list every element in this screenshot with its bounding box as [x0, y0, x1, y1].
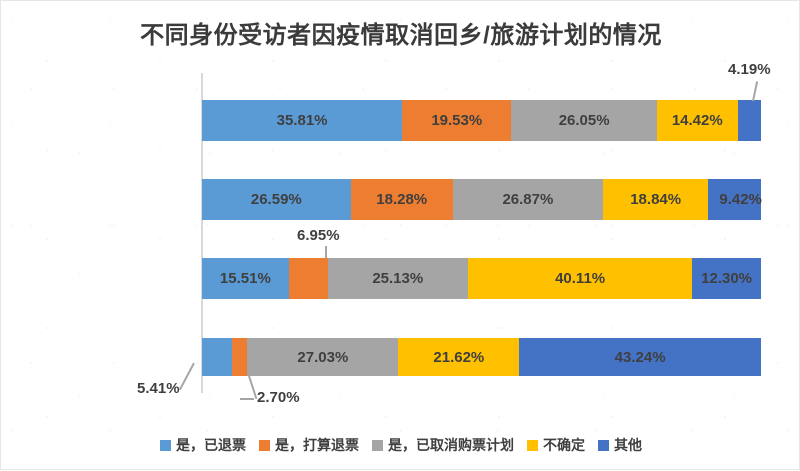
bar-value-label: 19.53% — [431, 113, 482, 128]
bar-value-label: 18.84% — [630, 192, 681, 207]
bar-segment-1-4[interactable]: 9.42% — [708, 179, 761, 220]
bar-segment-3-4[interactable]: 43.24% — [519, 338, 761, 376]
bar-segment-3-2[interactable]: 27.03% — [247, 338, 398, 376]
bar-value-label: 15.51% — [220, 271, 271, 286]
legend-item-2[interactable]: 是，已取消购票计划 — [372, 435, 514, 455]
legend-swatch-icon — [598, 440, 609, 451]
legend-swatch-icon — [527, 440, 538, 451]
bar-row: 26.59% 18.28% 26.87% 18.84% 9.42% — [202, 179, 761, 220]
legend-label: 是，打算退票 — [275, 435, 359, 455]
callout-label-6.95: 6.95% — [297, 227, 340, 244]
bar-value-label: 40.11% — [555, 271, 605, 286]
bar-segment-1-3[interactable]: 18.84% — [603, 179, 708, 220]
legend-label: 是，已退票 — [176, 435, 246, 455]
bar-segment-2-3[interactable]: 40.11% — [468, 258, 692, 299]
bar-row: 27.03% 21.62% 43.24% — [202, 338, 761, 376]
bar-value-label: 26.87% — [502, 192, 553, 207]
callout-label-4.19: 4.19% — [728, 61, 771, 78]
bar-segment-2-1[interactable] — [289, 258, 328, 299]
bar-segment-2-4[interactable]: 12.30% — [692, 258, 761, 299]
bar-segment-0-2[interactable]: 26.05% — [511, 100, 657, 141]
bar-value-label: 43.24% — [615, 350, 666, 365]
callout-label-2.70: 2.70% — [257, 389, 300, 406]
bar-segment-0-0[interactable]: 35.81% — [202, 100, 402, 141]
callout-label-5.41: 5.41% — [137, 380, 180, 397]
legend-swatch-icon — [259, 440, 270, 451]
bar-segment-3-3[interactable]: 21.62% — [398, 338, 519, 376]
legend-label: 是，已取消购票计划 — [388, 435, 514, 455]
callout-leader-line — [248, 376, 257, 399]
chart-container: 不同身份受访者因疫情取消回乡/旅游计划的情况 公务员或事业单位员工 企业员工 学… — [0, 0, 800, 470]
legend-item-3[interactable]: 不确定 — [527, 435, 585, 455]
bar-segment-0-1[interactable]: 19.53% — [402, 100, 511, 141]
legend-swatch-icon — [160, 440, 171, 451]
bar-segment-3-0[interactable] — [202, 338, 232, 376]
bar-row: 35.81% 19.53% 26.05% 14.42% — [202, 100, 761, 141]
bar-row: 15.51% 25.13% 40.11% 12.30% — [202, 258, 761, 299]
bar-segment-0-4[interactable] — [738, 100, 761, 141]
bar-segment-2-2[interactable]: 25.13% — [328, 258, 468, 299]
bar-segment-3-1[interactable] — [232, 338, 247, 376]
legend-swatch-icon — [372, 440, 383, 451]
legend-item-4[interactable]: 其他 — [598, 435, 642, 455]
callout-leader-line — [325, 246, 327, 258]
legend-item-1[interactable]: 是，打算退票 — [259, 435, 359, 455]
bar-segment-2-0[interactable]: 15.51% — [202, 258, 289, 299]
legend-label: 其他 — [614, 435, 642, 455]
bar-value-label: 18.28% — [376, 192, 427, 207]
bar-value-label: 27.03% — [297, 350, 348, 365]
callout-leader-line — [752, 81, 758, 101]
bar-value-label: 14.42% — [672, 113, 723, 128]
legend-item-0[interactable]: 是，已退票 — [160, 435, 246, 455]
callout-leader-line — [240, 398, 254, 400]
bar-value-label: 26.05% — [559, 113, 610, 128]
bar-segment-0-3[interactable]: 14.42% — [657, 100, 738, 141]
plot-area: 公务员或事业单位员工 企业员工 学生 其他 35.81% 19.53% 26.0… — [1, 1, 800, 471]
bar-segment-1-1[interactable]: 18.28% — [351, 179, 453, 220]
bar-value-label: 26.59% — [251, 192, 302, 207]
bar-value-label: 25.13% — [372, 271, 423, 286]
bar-value-label: 9.42% — [719, 192, 762, 207]
bar-value-label: 12.30% — [701, 271, 752, 286]
legend-label: 不确定 — [543, 435, 585, 455]
bar-segment-1-2[interactable]: 26.87% — [453, 179, 603, 220]
bar-value-label: 35.81% — [277, 113, 328, 128]
bar-value-label: 21.62% — [433, 350, 484, 365]
chart-legend: 是，已退票 是，打算退票 是，已取消购票计划 不确定 其他 — [1, 435, 800, 455]
callout-leader-line — [179, 363, 194, 390]
bar-segment-1-0[interactable]: 26.59% — [202, 179, 351, 220]
